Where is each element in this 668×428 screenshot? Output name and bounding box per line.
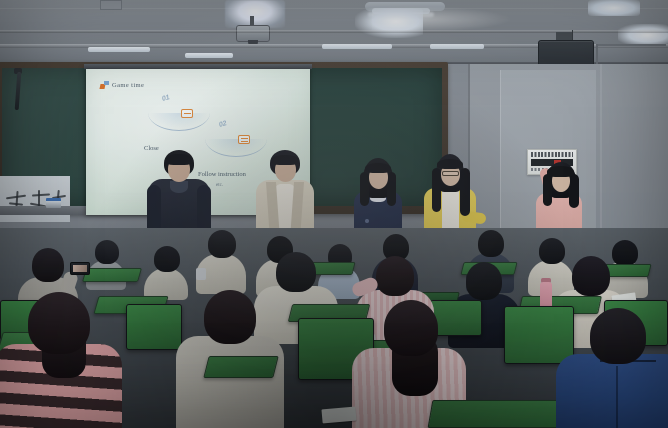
seated-student (196, 230, 246, 290)
paper-sheet (321, 407, 356, 424)
slide-curve-01-shadow (150, 113, 208, 128)
presenter-2-fringe (271, 155, 299, 165)
student-striped-top (0, 292, 122, 428)
presenter-1-fringe (165, 154, 193, 165)
presenter-3-badge-icon (365, 219, 369, 223)
tablet-desk (203, 356, 278, 378)
wall-strip-light (185, 53, 233, 58)
chair-back (126, 304, 182, 350)
fluorescent-tube-corner-icon (618, 24, 668, 46)
tablet-desk (82, 268, 142, 282)
presenter-5-hair-left (543, 174, 552, 206)
fluorescent-tube-left-icon (225, 0, 285, 28)
wall-seam-right (600, 64, 602, 244)
seated-student (144, 246, 188, 294)
wall-strip-light (322, 44, 392, 49)
student-denim-shirt (556, 308, 668, 428)
wall-conduit-horizontal (596, 44, 666, 46)
minus-card-icon (181, 109, 193, 118)
fluorescent-tube-far-right-icon (588, 0, 640, 16)
fluorescent-tube-right-icon (355, 8, 423, 38)
slide-title-text: Game time (112, 82, 144, 89)
presenter-3-hair-right (387, 172, 396, 206)
glasses-icon (442, 171, 459, 176)
phone-icon (70, 262, 90, 275)
presenter-4-fringe (437, 159, 463, 169)
slide-subtext: etc. (216, 183, 223, 188)
wall-strip-light (88, 47, 150, 52)
presenter-3-fringe (365, 163, 391, 173)
wall-strip-light (430, 44, 484, 49)
presenter-5-fringe (547, 166, 574, 177)
presenter-1-neckline (170, 181, 188, 193)
slide-logo-icon (100, 81, 109, 89)
presenter-3-hair-left (360, 172, 369, 206)
lines-card-icon (238, 135, 250, 144)
chalk-box-icon (46, 198, 61, 208)
ceiling-fixture-box (100, 0, 122, 10)
presenter-5-hair-right (569, 174, 579, 208)
cup-icon (196, 268, 206, 280)
presenter-4-hair-left (432, 168, 441, 212)
presenter-4-hair-right (460, 168, 470, 216)
slide-title-row: Game time (100, 81, 144, 89)
notice-header-text (531, 152, 573, 157)
classroom-photo: Game time 01 Close 02 Follow instruction… (0, 0, 668, 428)
